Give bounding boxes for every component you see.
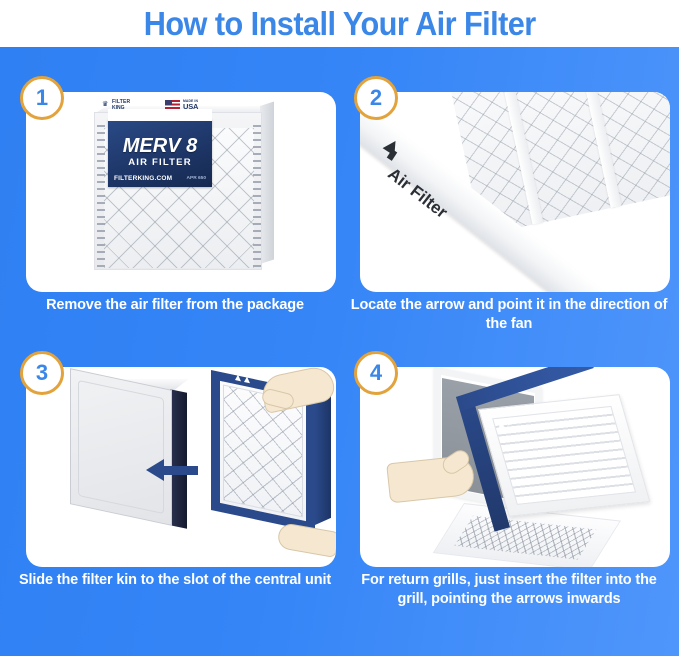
brace-3 — [645, 92, 670, 191]
step-3-badge: 3 — [20, 351, 64, 395]
step-2: Air Filter 2 Locate the arrow and point … — [348, 80, 670, 332]
step-1-card: ♛ FILTER KING MADE IN USA MERV 8 AIR FIL… — [26, 92, 336, 292]
central-unit-slot — [78, 380, 164, 514]
step-1-caption: Remove the air filter from the package — [14, 296, 336, 315]
hand-lower — [276, 522, 336, 558]
step-1-illustration: ♛ FILTER KING MADE IN USA MERV 8 AIR FIL… — [26, 92, 336, 292]
step-4: 4 For return grills, just insert the fil… — [348, 355, 670, 607]
step-4-card — [360, 367, 670, 567]
product-label: ♛ FILTER KING MADE IN USA MERV 8 AIR FIL… — [108, 119, 212, 187]
label-white-header: ♛ FILTER KING MADE IN USA — [108, 109, 212, 121]
page-title: How to Install Your Air Filter — [144, 7, 536, 40]
filter-front-frame: ♛ FILTER KING MADE IN USA MERV 8 AIR FIL… — [94, 112, 262, 270]
infographic-page: How to Install Your Air Filter — [0, 0, 679, 656]
step-2-badge: 2 — [354, 76, 398, 120]
label-apr: APR 650 — [187, 176, 206, 181]
label-subtitle: AIR FILTER — [108, 157, 212, 168]
grill-door — [478, 394, 650, 517]
step-4-illustration — [360, 367, 670, 567]
header-band: How to Install Your Air Filter — [0, 0, 679, 47]
filter-corner-photo: Air Filter — [360, 92, 670, 292]
air-filter-product-icon: ♛ FILTER KING MADE IN USA MERV 8 AIR FIL… — [94, 106, 274, 276]
step-4-caption: For return grills, just insert the filte… — [348, 571, 670, 609]
grill-base-mesh — [454, 516, 596, 560]
steps-grid: ♛ FILTER KING MADE IN USA MERV 8 AIR FIL… — [0, 47, 679, 656]
merv-rating: MERV 8 — [108, 135, 212, 158]
return-grill-diagram — [360, 367, 670, 567]
step-1: ♛ FILTER KING MADE IN USA MERV 8 AIR FIL… — [14, 80, 336, 332]
country-text: USA — [183, 102, 198, 111]
direction-arrow-icon — [146, 459, 198, 481]
filter-side-face — [260, 101, 274, 264]
arrow-shaft — [162, 466, 198, 475]
brace-1 — [489, 92, 543, 225]
arrow-head — [146, 459, 164, 481]
step-3: 3 Slide the filter kin to the slot of th… — [14, 355, 336, 607]
filter-left-ribbing — [97, 125, 105, 271]
step-3-illustration — [26, 367, 336, 567]
label-website: FILTERKING.COM — [114, 175, 172, 182]
step-2-card: Air Filter — [360, 92, 670, 292]
step-3-caption: Slide the filter kin to the slot of the … — [14, 571, 336, 590]
slide-into-unit-diagram — [26, 367, 336, 567]
crown-icon: ♛ — [102, 100, 108, 108]
step-2-caption: Locate the arrow and point it in the dir… — [348, 296, 670, 334]
step-2-illustration: Air Filter — [360, 92, 670, 292]
usa-flag-icon — [165, 100, 180, 109]
step-1-badge: 1 — [20, 76, 64, 120]
brace-2 — [567, 92, 621, 208]
step-3-card — [26, 367, 336, 567]
brand-line-2: KING — [112, 105, 125, 111]
filter-right-ribbing — [253, 125, 261, 271]
step-4-badge: 4 — [354, 351, 398, 395]
